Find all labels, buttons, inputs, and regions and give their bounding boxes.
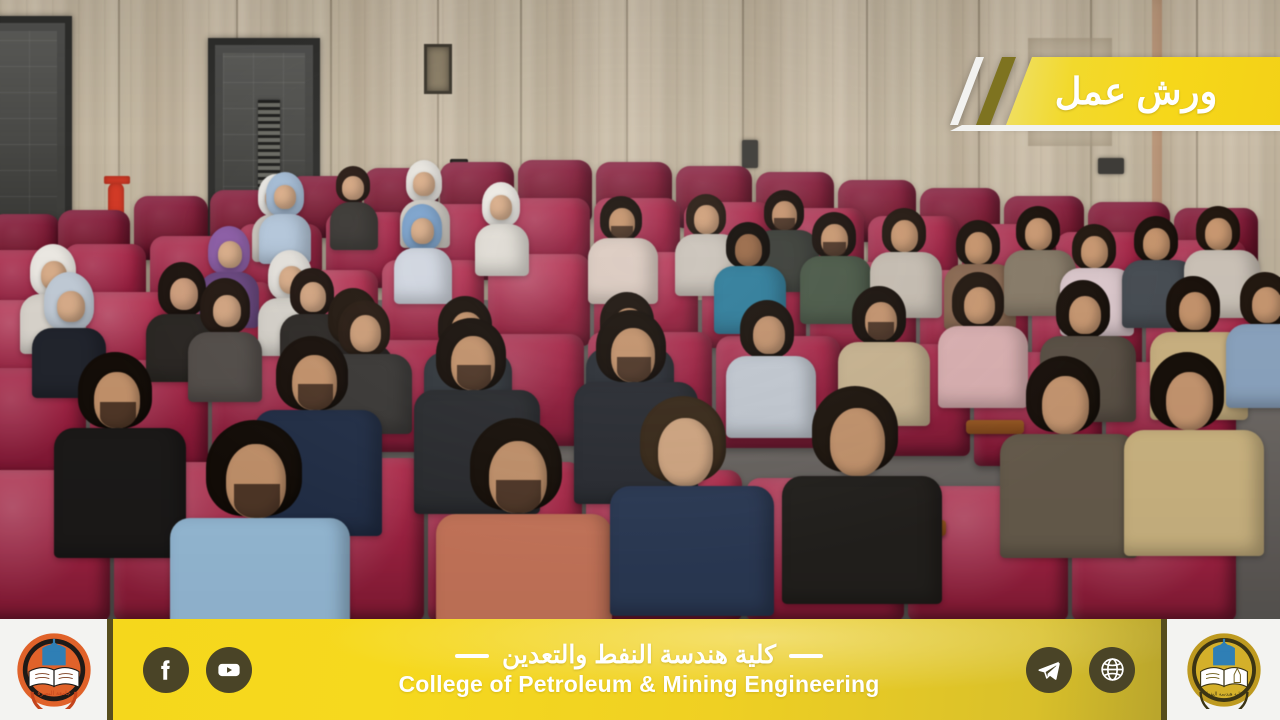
dash-left [789,654,823,658]
ribbon-white-slash [950,57,984,125]
college-seal-icon: كلية هندسة النفط [1185,631,1263,709]
event-poster: ورش عمل جامعة البصرة [0,0,1280,720]
dash-right [455,654,489,658]
left-seal-container: جامعة البصرة [0,619,107,720]
ribbon-label: ورش عمل [1055,70,1232,113]
ribbon-underline [950,125,1280,131]
social-links-left [113,647,252,693]
facebook-icon [153,657,179,683]
telegram-link[interactable] [1026,647,1072,693]
university-of-basrah-seal-icon: جامعة البصرة [15,631,93,709]
ribbon-body: ورش عمل [1006,57,1280,125]
college-title-arabic-text: كلية هندسة النفط والتعدين [502,642,776,669]
college-title-english: College of Petroleum & Mining Engineerin… [398,672,879,697]
svg-text:كلية هندسة النفط: كلية هندسة النفط [1205,691,1242,697]
workshop-ribbon: ورش عمل [950,57,1280,125]
right-seal-container: كلية هندسة النفط [1167,619,1280,720]
youtube-link[interactable] [206,647,252,693]
college-title-arabic: كلية هندسة النفط والتعدين [455,642,823,669]
telegram-icon [1036,657,1062,683]
website-link[interactable] [1089,647,1135,693]
facebook-link[interactable] [143,647,189,693]
banner-titles: كلية هندسة النفط والتعدين College of Pet… [252,642,1026,697]
youtube-icon [216,657,242,683]
social-links-right [1026,647,1161,693]
footer-banner: جامعة البصرة [0,619,1280,720]
banner-bar: كلية هندسة النفط والتعدين College of Pet… [113,619,1161,720]
globe-icon [1099,656,1126,683]
svg-text:جامعة البصرة: جامعة البصرة [37,690,71,696]
